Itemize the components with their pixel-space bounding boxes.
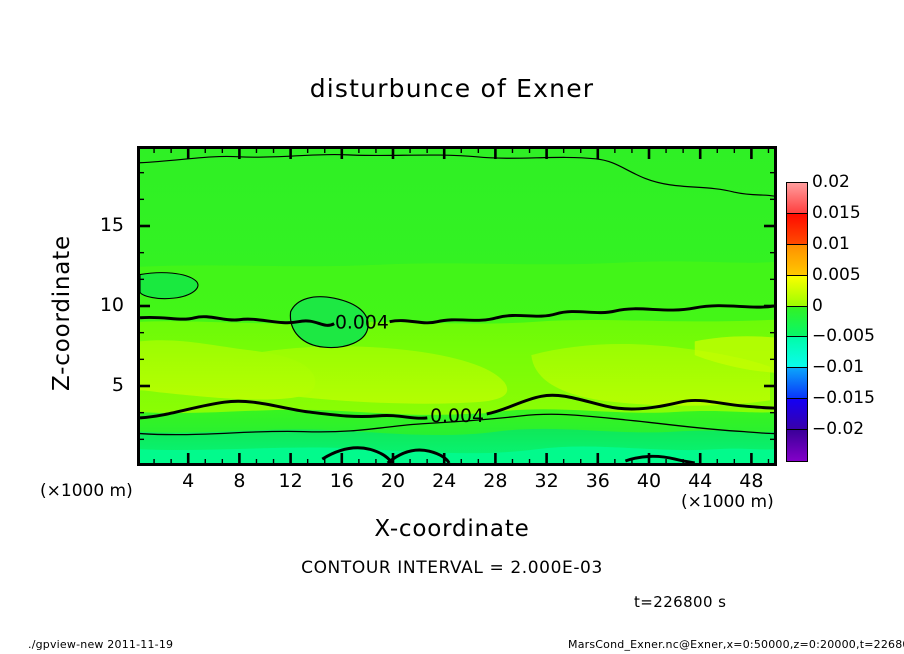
colorbar-band (786, 367, 808, 399)
footer-dataset: MarsCond_Exner.nc@Exner,x=0:50000,z=0:20… (568, 638, 904, 651)
colorbar-band (786, 398, 808, 430)
time-label: t=226800 s (634, 593, 726, 611)
colorbar-tick-label: −0.015 (812, 388, 875, 408)
footer-command: ./gpview-new 2011-11-19 (28, 638, 173, 651)
axis-ticks (130, 139, 790, 479)
colorbar-band (786, 429, 808, 461)
colorbar-tick-label: −0.005 (812, 326, 875, 346)
colorbar-band (786, 275, 808, 307)
colorbar-band (786, 213, 808, 245)
x-tick-label: 48 (729, 470, 773, 492)
colorbar-band (786, 336, 808, 368)
x-tick-label: 44 (678, 470, 722, 492)
colorbar-band (786, 182, 808, 214)
y-tick-label: 5 (82, 374, 124, 396)
y-axis-title: Z-coordinate (49, 193, 75, 433)
colorbar-tick-label: 0.02 (812, 172, 850, 192)
y-tick-label: 15 (82, 214, 124, 236)
colorbar-band (786, 306, 808, 338)
colorbar-tick-label: −0.01 (812, 357, 864, 377)
colorbar-tick-label: 0.01 (812, 234, 850, 254)
x-tick-label: 16 (320, 470, 364, 492)
x-tick-label: 8 (217, 470, 261, 492)
x-tick-label: 40 (627, 470, 671, 492)
x-tick-label: 28 (473, 470, 517, 492)
y-axis-units: (×1000 m) (40, 481, 133, 501)
colorbar-tick-label: 0 (812, 296, 823, 316)
page-title: disturbunce of Exner (0, 74, 904, 103)
x-axis-units: (×1000 m) (681, 492, 774, 512)
x-tick-label: 20 (371, 470, 415, 492)
colorbar-tick-label: 0.005 (812, 265, 861, 285)
colorbar (786, 182, 808, 460)
x-tick-label: 24 (422, 470, 466, 492)
x-tick-label: 4 (166, 470, 210, 492)
x-axis-title: X-coordinate (0, 516, 904, 542)
x-tick-label: 12 (269, 470, 313, 492)
y-tick-label: 10 (82, 294, 124, 316)
x-tick-label: 32 (525, 470, 569, 492)
colorbar-tick-label: 0.015 (812, 203, 861, 223)
colorbar-band (786, 244, 808, 276)
x-tick-label: 36 (576, 470, 620, 492)
contour-interval-label: CONTOUR INTERVAL = 2.000E-03 (0, 558, 904, 578)
colorbar-tick-label: −0.02 (812, 419, 864, 439)
